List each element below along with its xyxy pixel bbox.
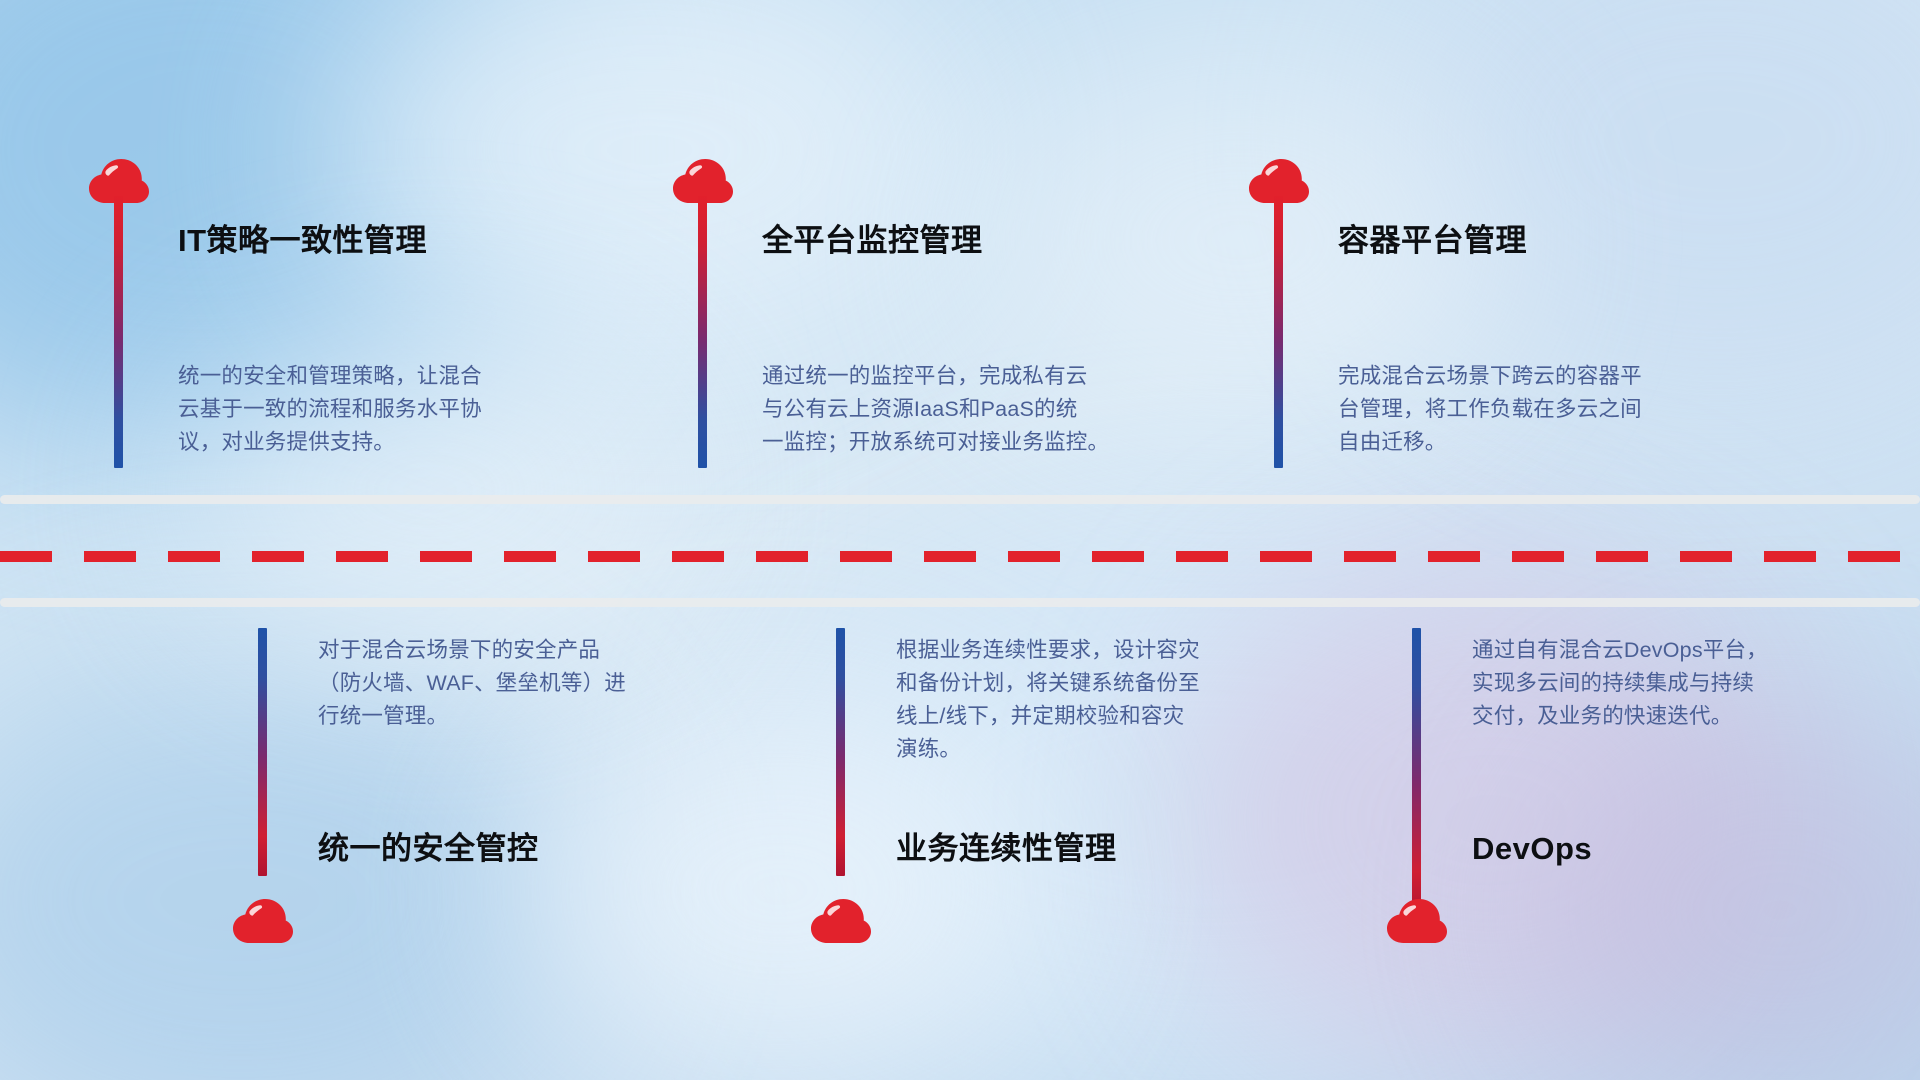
item-body: 对于混合云场景下的安全产品 （防火墙、WAF、堡垒机等）进 行统一管理。 bbox=[318, 634, 748, 733]
item-heading: DevOps bbox=[1472, 833, 1592, 864]
item-heading: 统一的安全管控 bbox=[318, 833, 539, 864]
item-body: 通过自有混合云DevOps平台， 实现多云间的持续集成与持续 交付，及业务的快速… bbox=[1472, 634, 1902, 733]
item-body: 完成混合云场景下跨云的容器平 台管理，将工作负载在多云之间 自由迁移。 bbox=[1338, 360, 1788, 459]
timeline-stem bbox=[698, 196, 707, 468]
timeline-stem bbox=[836, 628, 845, 876]
cloud-icon bbox=[810, 898, 872, 944]
infographic-canvas: IT策略一致性管理 统一的安全和管理策略，让混合 云基于一致的流程和服务水平协 … bbox=[0, 0, 1920, 1080]
item-heading: 全平台监控管理 bbox=[762, 225, 983, 256]
item-body: 根据业务连续性要求，设计容灾 和备份计划，将关键系统备份至 线上/线下，并定期校… bbox=[896, 634, 1326, 766]
cloud-icon bbox=[1386, 898, 1448, 944]
cloud-icon bbox=[232, 898, 294, 944]
item-heading: 业务连续性管理 bbox=[896, 833, 1117, 864]
timeline-stem bbox=[258, 628, 267, 876]
divider-rail-top bbox=[0, 495, 1920, 504]
item-heading: IT策略一致性管理 bbox=[178, 225, 427, 256]
divider-rail-bottom bbox=[0, 598, 1920, 607]
timeline-stem bbox=[1274, 196, 1283, 468]
item-heading: 容器平台管理 bbox=[1338, 225, 1527, 256]
divider-dashed-line bbox=[0, 551, 1920, 562]
item-body: 统一的安全和管理策略，让混合 云基于一致的流程和服务水平协 议，对业务提供支持。 bbox=[178, 360, 618, 459]
timeline-stem bbox=[114, 196, 123, 468]
timeline-stem bbox=[1412, 628, 1421, 918]
item-body: 通过统一的监控平台，完成私有云 与公有云上资源IaaS和PaaS的统 一监控；开… bbox=[762, 360, 1232, 459]
